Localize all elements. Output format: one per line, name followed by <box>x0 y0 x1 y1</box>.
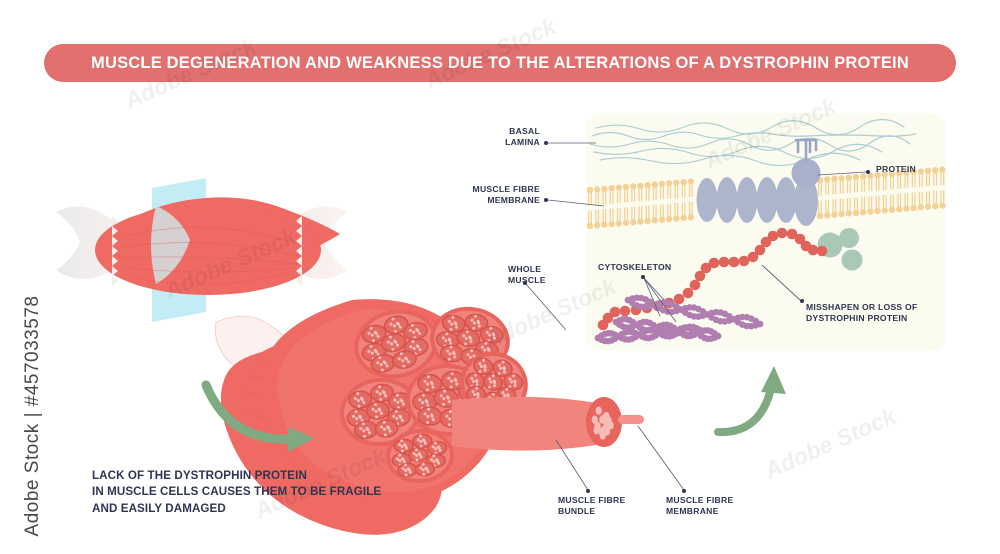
muscle-belly-body <box>95 205 321 295</box>
label-muscle-fibre-membrane: MUSCLE FIBRE MEMBRANE <box>666 495 733 517</box>
fibre-membrane-highlight <box>618 415 644 424</box>
summary-caption: LACK OF THE DYSTROPHIN PROTEIN IN MUSCLE… <box>92 468 381 517</box>
illustration-canvas: MUSCLE DEGENERATION AND WEAKNESS DUE TO … <box>0 0 1000 554</box>
single-muscle-fibre <box>452 397 602 451</box>
label-muscle-fibre-membrane-inset: MUSCLE FIBRE MEMBRANE <box>420 184 540 206</box>
label-protein: PROTEIN <box>876 164 916 175</box>
label-basal-lamina: BASAL LAMINA <box>440 126 540 148</box>
stock-watermark: Adobe Stock | #457033578 <box>22 286 44 546</box>
label-whole-muscle: WHOLE MUSCLE <box>508 264 546 286</box>
whole-muscle-illustration <box>56 178 348 322</box>
label-misshapen-dystrophin: MISSHAPEN OR LOSS OF DYSTROPHIN PROTEIN <box>806 302 917 324</box>
label-cytoskeleton: CYTOSKELETON <box>598 262 671 273</box>
arrow-right-head <box>761 366 786 394</box>
label-muscle-fibre-bundle: MUSCLE FIBRE BUNDLE <box>558 495 625 517</box>
